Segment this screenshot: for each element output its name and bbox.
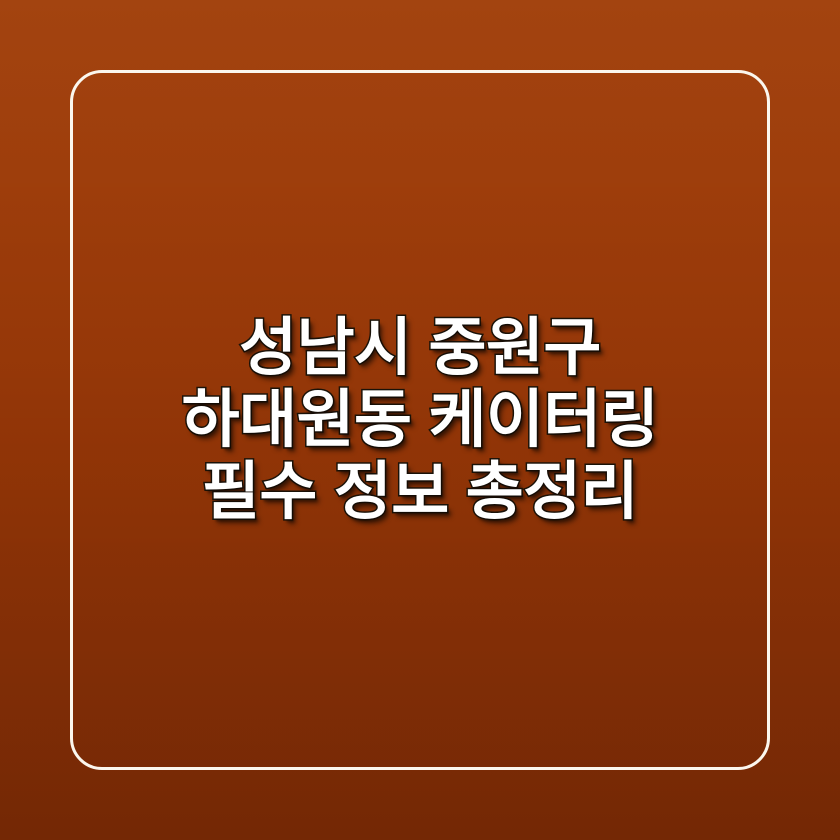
headline-line-2: 하대원동 케이터링 [94, 384, 746, 456]
poster-card: 성남시 중원구 하대원동 케이터링 필수 정보 총정리 [0, 0, 840, 840]
headline-line-1: 성남시 중원구 [94, 312, 746, 384]
headline-line-3: 필수 정보 총정리 [94, 456, 746, 528]
headline-block: 성남시 중원구 하대원동 케이터링 필수 정보 총정리 [70, 70, 770, 770]
